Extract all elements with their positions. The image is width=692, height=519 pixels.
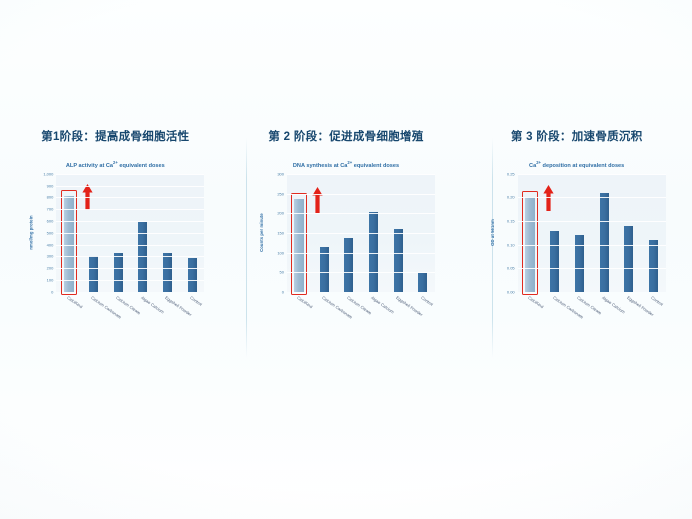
chart-title-tail: equivalent doses	[352, 163, 399, 169]
gridline	[56, 280, 204, 281]
gridline	[287, 194, 435, 195]
bar-chart-dna-synthesis: Counts per minute 050100150200250300 Cal…	[257, 174, 435, 329]
y-tick-label: 0.05	[507, 266, 515, 271]
x-tick: Control	[410, 293, 435, 329]
y-tick-label: 0.25	[507, 171, 515, 176]
gridline	[518, 197, 666, 198]
chart-title-tail: equivalent doses	[118, 163, 165, 169]
panel-heading: 第1阶段：提高成骨细胞活性	[0, 128, 231, 144]
y-tick-label: 600	[47, 219, 54, 224]
bar-column	[616, 174, 641, 292]
chart-title: DNA synthesis at Ca2+ equivalent doses	[231, 160, 462, 169]
y-tick-label: 500	[47, 230, 54, 235]
bar	[624, 226, 633, 292]
bar-column	[641, 174, 666, 292]
panel-stage-1: 第1阶段：提高成骨细胞活性 ALP activity at Ca2+ equiv…	[0, 128, 231, 368]
x-tick: Control	[641, 293, 666, 329]
y-tick-label: 50	[280, 270, 284, 275]
bar-column	[518, 174, 543, 292]
y-tick-label: 700	[47, 207, 54, 212]
y-tick-label: 0.00	[507, 289, 515, 294]
gridline	[56, 186, 204, 187]
x-tick: Algae Calcium	[361, 293, 386, 329]
x-tick-label: Control	[189, 295, 203, 307]
gridline	[56, 256, 204, 257]
y-tick-label: 900	[47, 183, 54, 188]
x-axis-labels: CalciKindCalcium CarbonateCalcium Citrat…	[287, 293, 435, 329]
y-tick-label: 800	[47, 195, 54, 200]
y-tick-label: 0.15	[507, 219, 515, 224]
panel-row: 第1阶段：提高成骨细胞活性 ALP activity at Ca2+ equiv…	[0, 128, 692, 368]
x-tick: Algae Calcium	[130, 293, 155, 329]
x-tick: Calcium Carbonate	[81, 293, 106, 329]
panel-stage-3: 第 3 阶段：加速骨质沉积 Ca2+ deposition at equival…	[461, 128, 692, 368]
bar	[550, 231, 559, 292]
gridline	[287, 213, 435, 214]
y-tick-label: 200	[277, 211, 284, 216]
x-tick: CalciKind	[287, 293, 312, 329]
x-tick: Control	[180, 293, 205, 329]
x-tick-label: Control	[420, 295, 434, 307]
bar	[114, 253, 123, 292]
y-tick-label: 300	[277, 171, 284, 176]
plot-area	[518, 174, 666, 292]
chart-title-tail: deposition at equivalent doses	[541, 163, 624, 169]
bar-column	[542, 174, 567, 292]
gridline	[518, 245, 666, 246]
y-axis-ticks: 01002003004005006007008009001,000	[35, 174, 55, 292]
bar	[418, 273, 427, 292]
panel-heading: 第 2 阶段：促进成骨细胞增殖	[231, 128, 462, 144]
bar	[649, 240, 658, 292]
gridline	[56, 245, 204, 246]
y-tick-label: 200	[47, 266, 54, 271]
gridline	[56, 197, 204, 198]
y-axis-ticks: 0.000.050.100.150.200.25	[497, 174, 517, 292]
chart-title-main: DNA synthesis at Ca	[293, 163, 348, 169]
bar	[394, 229, 403, 292]
bar-chart-alp-activity: nmol/mg protein 010020030040050060070080…	[26, 174, 204, 329]
gridline	[518, 221, 666, 222]
gridline	[56, 233, 204, 234]
gridline	[287, 272, 435, 273]
plot-area	[287, 174, 435, 292]
bar-column	[567, 174, 592, 292]
y-tick-label: 300	[47, 254, 54, 259]
x-tick: CalciKind	[518, 293, 543, 329]
bar	[89, 256, 98, 291]
y-axis-label: Counts per minute	[257, 174, 266, 292]
x-tick: Calcium Carbonate	[312, 293, 337, 329]
slide-canvas: 第1阶段：提高成骨细胞活性 ALP activity at Ca2+ equiv…	[0, 0, 692, 519]
plot-area	[56, 174, 204, 292]
panel-heading: 第 3 阶段：加速骨质沉积	[461, 128, 692, 144]
y-tick-label: 0.10	[507, 242, 515, 247]
gridline	[287, 174, 435, 175]
y-tick-label: 150	[277, 230, 284, 235]
gridline	[56, 221, 204, 222]
x-tick: Algae Calcium	[592, 293, 617, 329]
bar	[188, 258, 197, 292]
gridline	[518, 174, 666, 175]
chart-title-main: ALP activity at Ca	[66, 163, 113, 169]
x-tick: Eggshell Powder	[386, 293, 411, 329]
y-axis-label: OD at 561nm	[488, 174, 497, 292]
x-tick: Eggshell Powder	[616, 293, 641, 329]
x-tick: Calcium Citrate	[567, 293, 592, 329]
x-axis-labels: CalciKindCalcium CarbonateCalcium Citrat…	[56, 293, 204, 329]
gridline	[287, 253, 435, 254]
x-tick: Calcium Carbonate	[542, 293, 567, 329]
bar-chart-ca-deposition: OD at 561nm 0.000.050.100.150.200.25 Cal…	[488, 174, 666, 329]
bar-column	[592, 174, 617, 292]
gridline	[287, 233, 435, 234]
x-tick: Eggshell Powder	[155, 293, 180, 329]
y-axis-label: nmol/mg protein	[26, 174, 35, 292]
y-tick-label: 400	[47, 242, 54, 247]
bar	[600, 193, 609, 292]
gridline	[518, 268, 666, 269]
gridline	[56, 268, 204, 269]
x-tick: Calcium Citrate	[336, 293, 361, 329]
panel-stage-2: 第 2 阶段：促进成骨细胞增殖 DNA synthesis at Ca2+ eq…	[231, 128, 462, 368]
chart-title: Ca2+ deposition at equivalent doses	[461, 160, 692, 169]
chart-title: ALP activity at Ca2+ equivalent doses	[0, 160, 231, 169]
y-tick-label: 250	[277, 191, 284, 196]
bar-series	[518, 174, 666, 292]
y-tick-label: 100	[277, 250, 284, 255]
gridline	[56, 174, 204, 175]
gridline	[56, 209, 204, 210]
y-tick-label: 0	[282, 289, 284, 294]
bar	[163, 253, 172, 292]
y-tick-label: 0	[51, 289, 53, 294]
bar	[344, 238, 353, 292]
y-axis-ticks: 050100150200250300	[266, 174, 286, 292]
x-tick-label: Control	[650, 295, 664, 307]
y-tick-label: 1,000	[43, 171, 53, 176]
y-tick-label: 0.20	[507, 195, 515, 200]
x-axis-labels: CalciKindCalcium CarbonateCalcium Citrat…	[518, 293, 666, 329]
x-tick: Calcium Citrate	[106, 293, 131, 329]
y-tick-label: 100	[47, 278, 54, 283]
x-tick: CalciKind	[56, 293, 81, 329]
